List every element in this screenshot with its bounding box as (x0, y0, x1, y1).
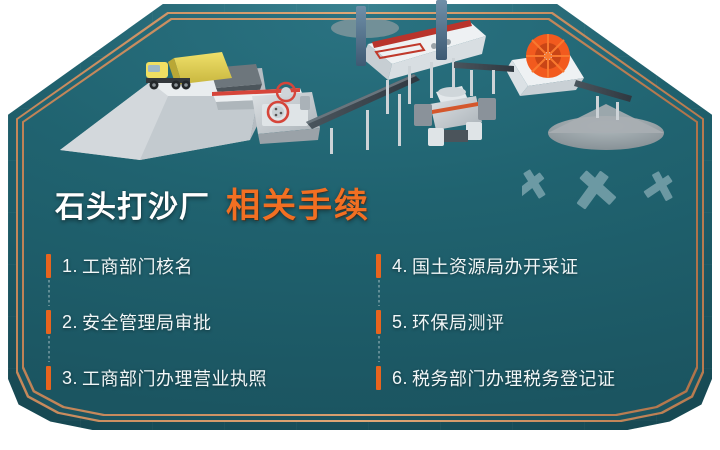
poster-title: 石头打沙厂 相关手续 (55, 178, 370, 227)
step-label: 国土资源局办开采证 (412, 253, 579, 279)
list-item[interactable]: 1. 工商部门核名 (46, 238, 356, 294)
step-marker-bar (376, 366, 381, 390)
step-label: 工商部门办理营业执照 (82, 365, 267, 391)
cross-marks-decoration (522, 168, 692, 226)
cross-mark-icon (573, 168, 617, 210)
title-primary: 石头打沙厂 (55, 182, 210, 226)
screen-column-left (356, 6, 366, 66)
list-item[interactable]: 3. 工商部门办理营业执照 (46, 350, 356, 406)
step-marker-bar (46, 254, 51, 278)
list-item[interactable]: 6. 税务部门办理税务登记证 (376, 350, 686, 406)
list-item[interactable]: 5. 环保局测评 (376, 294, 686, 350)
step-number: 6. (392, 368, 408, 389)
cross-mark-icon (642, 169, 678, 204)
step-number: 2. (62, 312, 78, 333)
step-label: 安全管理局审批 (82, 309, 212, 335)
title-highlight: 相关手续 (226, 178, 370, 227)
step-marker-bar (46, 310, 51, 334)
step-marker-bar (376, 254, 381, 278)
step-number: 5. (392, 312, 408, 333)
list-item[interactable]: 4. 国土资源局办开采证 (376, 238, 686, 294)
production-line-illustration (0, 0, 720, 175)
step-number: 3. (62, 368, 78, 389)
cone-crusher (414, 86, 496, 146)
screen-column-right (436, 0, 447, 60)
step-marker-bar (46, 366, 51, 390)
steps-column-left: 1. 工商部门核名 2. 安全管理局审批 3. 工商部门办理营业执照 (46, 238, 356, 406)
washer-wheel (526, 34, 570, 78)
list-item[interactable]: 2. 安全管理局审批 (46, 294, 356, 350)
steps-column-right: 4. 国土资源局办开采证 5. 环保局测评 6. 税务部门办理税务登记证 (356, 238, 686, 406)
step-number: 4. (392, 256, 408, 277)
step-label: 工商部门核名 (82, 253, 193, 279)
cross-mark-icon (522, 168, 550, 201)
step-number: 1. (62, 256, 78, 277)
step-label: 环保局测评 (412, 309, 505, 335)
procedure-lists: 1. 工商部门核名 2. 安全管理局审批 3. 工商部门办理营业执照 4. 国土… (46, 238, 686, 406)
step-marker-bar (376, 310, 381, 334)
step-label: 税务部门办理税务登记证 (412, 365, 616, 391)
poster-canvas: 石头打沙厂 相关手续 1. 工商部门核名 (0, 0, 720, 450)
